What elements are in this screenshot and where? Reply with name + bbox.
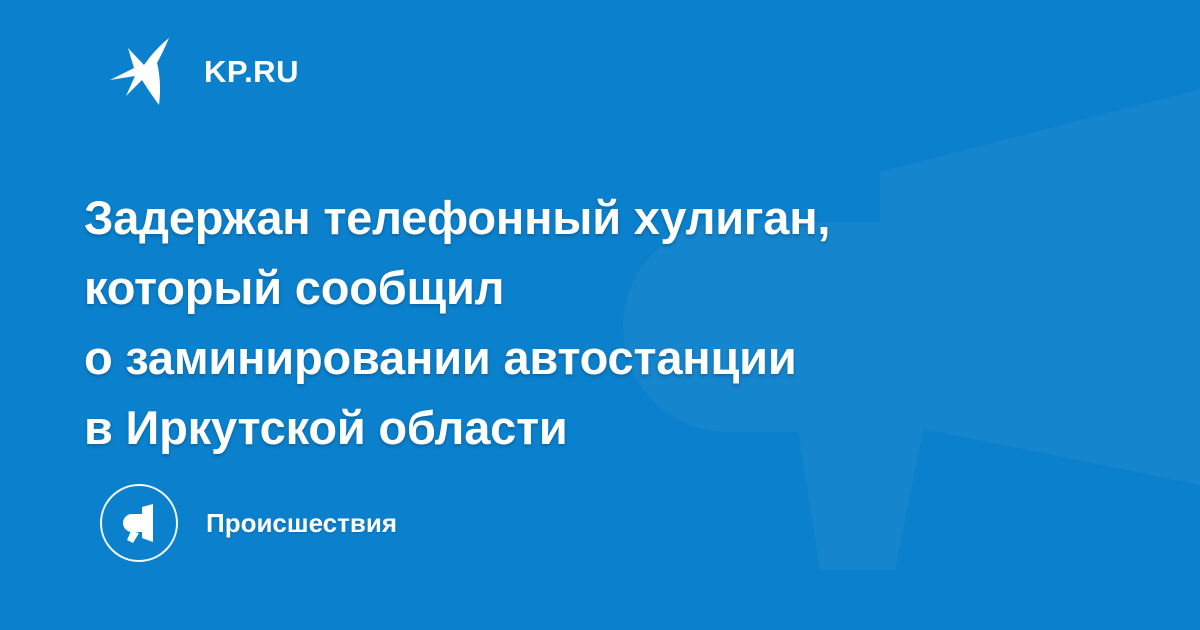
- share-card: KP.RU Задержан телефонный хулиган, котор…: [0, 0, 1200, 630]
- headline-line-1: Задержан телефонный хулиган,: [84, 183, 1094, 253]
- headline-line-4: в Иркутской области: [84, 393, 1094, 463]
- headline-line-3: о заминировании автостанции: [84, 323, 1094, 393]
- page-title: Задержан телефонный хулиган, который соо…: [84, 183, 1094, 463]
- rubric-badge[interactable]: Происшествия: [100, 484, 397, 562]
- rubric-icon-circle: [100, 484, 178, 562]
- headline-line-2: который сообщил: [84, 253, 1094, 323]
- swallow-bird-icon: [108, 36, 182, 106]
- brand-name: KP.RU: [204, 56, 299, 87]
- rubric-label: Происшествия: [206, 510, 397, 536]
- megaphone-icon: [118, 502, 160, 544]
- brand-logo[interactable]: KP.RU: [108, 36, 299, 106]
